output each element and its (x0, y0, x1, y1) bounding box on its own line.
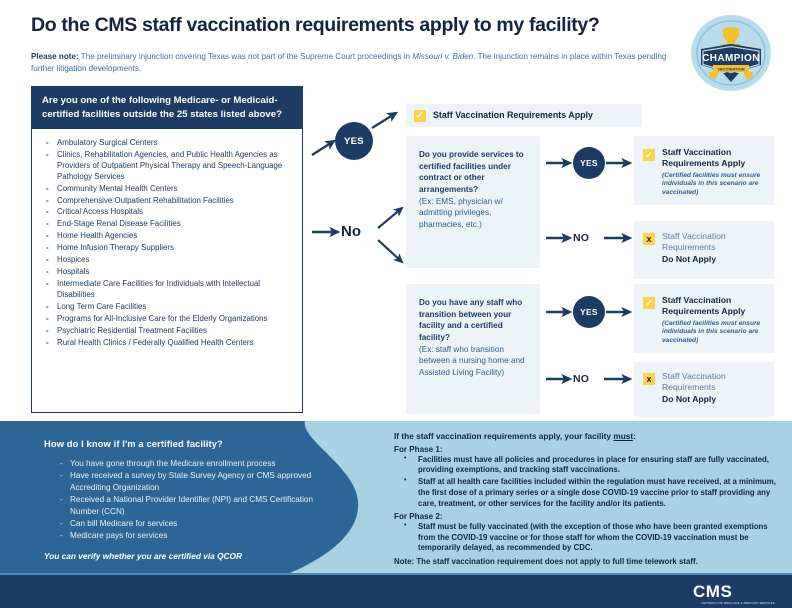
result-box-apply-contract: ✓ Staff Vaccination Requirements Apply (… (634, 136, 774, 205)
result-apply-title: Staff Vaccination Requirements Apply (662, 295, 766, 318)
facility-list-item: End-Stage Renal Disease Facilities (46, 219, 292, 230)
cms-logo-text: CMS (693, 583, 775, 600)
facility-list: Ambulatory Surgical CentersClinics, Reha… (32, 129, 302, 355)
x-icon: x (643, 233, 655, 245)
result-notapply-line2: Requirements (662, 242, 766, 253)
q2-example: (Ex: staff who transition between a nurs… (419, 344, 530, 379)
decision-no-primary: No (341, 223, 361, 240)
phase1-list: Facilities must have all policies and pr… (394, 455, 782, 510)
result-box-not-apply-contract: x Staff Vaccination Requirements Do Not … (634, 221, 774, 279)
check-icon: ✓ (643, 149, 655, 161)
phase-intro-a: If the staff vaccination requirements ap… (394, 431, 613, 441)
facility-list-item: Home Infusion Therapy Suppliers (46, 243, 292, 254)
facility-list-item: Rural Health Clinics / Federally Qualifi… (46, 338, 292, 349)
facility-list-item: Home Health Agencies (46, 231, 292, 242)
q2-bold: Do you have any staff who transition bet… (419, 297, 530, 344)
page-title: Do the CMS staff vaccination requirement… (31, 14, 681, 36)
facility-list-panel: Are you one of the following Medicare- o… (31, 86, 303, 413)
decision-yes-contract: YES (573, 147, 605, 179)
certified-list-item: Received a National Provider Identifier … (60, 494, 344, 517)
qcor-note: You can verify whether you are certified… (44, 551, 344, 561)
phase-intro: If the staff vaccination requirements ap… (394, 431, 782, 442)
facility-list-item: Clinics, Rehabilitation Agencies, and Pu… (46, 150, 292, 182)
q1-bold: Do you provide services to certified fac… (419, 149, 530, 196)
facility-list-item: Comprehensive Outpatient Rehabilitation … (46, 196, 292, 207)
cms-logo-tagline: CENTERS FOR MEDICARE & MEDICAID SERVICES (701, 601, 775, 605)
certified-criteria-list: You have gone through the Medicare enrol… (44, 458, 344, 542)
facility-list-item: Intermediate Care Facilities for Individ… (46, 279, 292, 301)
phase1-list-item: Staff at all health care facilities incl… (404, 477, 782, 509)
result-banner-apply: ✓ Staff Vaccination Requirements Apply (406, 104, 642, 127)
question-box-contract: Do you provide services to certified fac… (406, 136, 540, 268)
infographic-page: Do the CMS staff vaccination requirement… (0, 0, 792, 608)
phase-note: Note: The staff vaccination requirement … (394, 557, 782, 568)
decision-no-contract: NO (573, 232, 589, 244)
phase-requirements-block: If the staff vaccination requirements ap… (394, 431, 782, 568)
facility-list-item: Hospices (46, 255, 292, 266)
phase1-list-item: Facilities must have all policies and pr… (404, 455, 782, 477)
result-box-not-apply-transition: x Staff Vaccination Requirements Do Not … (634, 362, 774, 417)
phase-intro-b: : (633, 431, 636, 441)
check-icon: ✓ (643, 297, 655, 309)
phase1-heading: For Phase 1: (394, 445, 782, 454)
facility-panel-question: Are you one of the following Medicare- o… (32, 87, 302, 129)
champion-seal-icon: CHAMPION VACCINATION (689, 13, 773, 93)
result-banner-label: Staff Vaccination Requirements Apply (433, 110, 593, 120)
decision-yes-transition: YES (573, 296, 605, 328)
cms-logo: CMS CENTERS FOR MEDICARE & MEDICAID SERV… (693, 583, 775, 605)
facility-list-item: Psychiatric Residential Treatment Facili… (46, 326, 292, 337)
facility-list-item: Community Mental Health Centers (46, 184, 292, 195)
certified-title: How do I know if I'm a certified facilit… (44, 438, 344, 449)
please-note-label: Please note: (31, 52, 79, 61)
bottom-section: How do I know if I'm a certified facilit… (0, 421, 792, 608)
certified-list-item: Medicare pays for services (60, 530, 344, 542)
phase2-heading: For Phase 2: (394, 512, 782, 521)
result-apply-sub: (Certified facilities must ensure indivi… (662, 320, 766, 346)
facility-list-item: Programs for All-Inclusive Care for the … (46, 314, 292, 325)
svg-text:VACCINATION: VACCINATION (717, 67, 744, 72)
result-notapply-line1: Staff Vaccination (662, 371, 766, 382)
facility-list-item: Long Term Care Facilities (46, 302, 292, 313)
svg-text:CHAMPION: CHAMPION (702, 53, 760, 64)
phase-note-label: Note (394, 557, 412, 566)
result-notapply-line3: Do Not Apply (662, 254, 716, 264)
certified-list-item: You have gone through the Medicare enrol… (60, 458, 344, 470)
phase2-list-item: Staff must be fully vaccinated (with the… (404, 522, 782, 554)
result-apply-title: Staff Vaccination Requirements Apply (662, 147, 766, 170)
x-icon: x (643, 373, 655, 385)
result-apply-sub: (Certified facilities must ensure indivi… (662, 172, 766, 198)
check-icon: ✓ (414, 110, 426, 122)
facility-list-item: Hospitals (46, 267, 292, 278)
question-box-transition: Do you have any staff who transition bet… (406, 284, 540, 414)
phase-note-text: : The staff vaccination requirement does… (412, 557, 698, 566)
facility-list-item: Ambulatory Surgical Centers (46, 138, 292, 149)
please-note-part1: The preliminary injunction covering Texa… (79, 52, 413, 61)
result-notapply-line1: Staff Vaccination (662, 231, 766, 242)
please-note-case-name: Missouri v. Biden (412, 52, 473, 61)
q1-example: (Ex: EMS, physician w/ admitting privile… (419, 196, 530, 231)
result-notapply-line2: Requirements (662, 382, 766, 393)
decision-yes-primary: YES (335, 122, 373, 160)
certified-list-item: Can bill Medicare for services (60, 518, 344, 530)
footer-bar (0, 573, 792, 608)
result-box-apply-transition: ✓ Staff Vaccination Requirements Apply (… (634, 284, 774, 353)
certified-list-item: Have received a survey by State Survey A… (60, 470, 344, 493)
facility-list-item: Critical Access Hospitals (46, 207, 292, 218)
decision-no-transition: NO (573, 373, 589, 385)
phase2-list: Staff must be fully vaccinated (with the… (394, 522, 782, 554)
please-note-text: Please note: The preliminary injunction … (31, 51, 684, 74)
certified-facility-block: How do I know if I'm a certified facilit… (44, 438, 344, 561)
result-notapply-line3: Do Not Apply (662, 394, 716, 404)
phase-intro-must: must (613, 431, 633, 441)
